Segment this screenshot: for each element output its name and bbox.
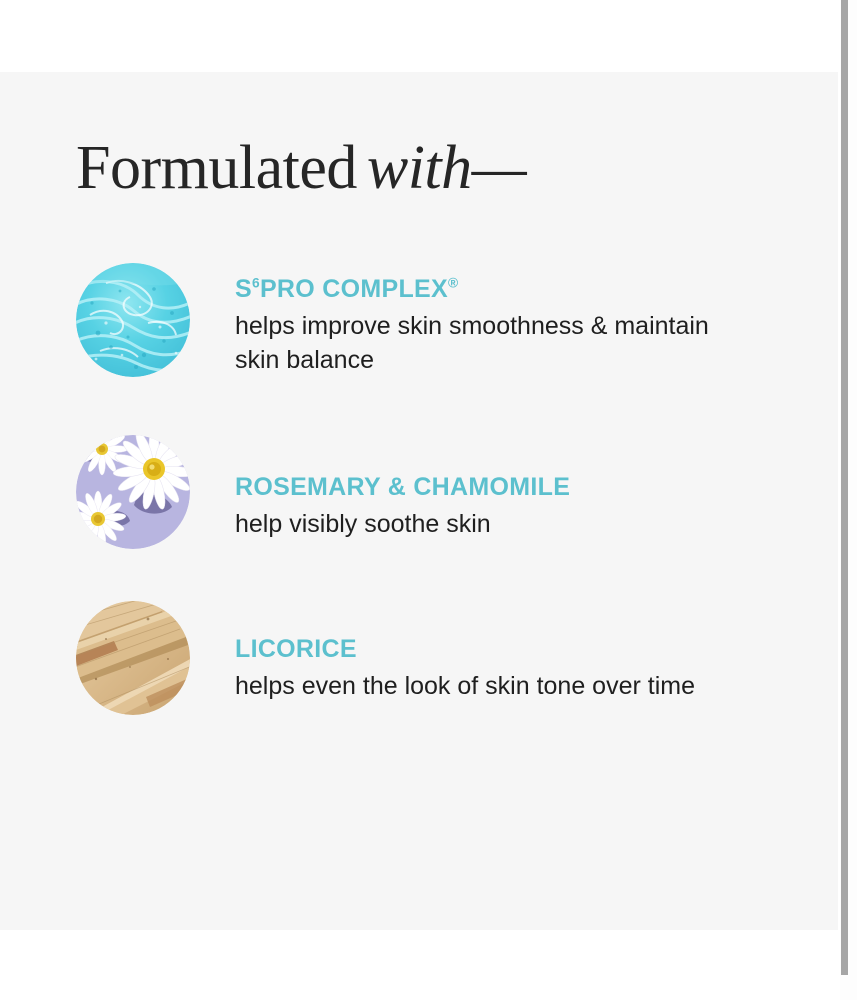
ingredient-name-rest: PRO COMPLEX <box>260 275 448 303</box>
rosemary-chamomile-daisy-thumbnail <box>76 435 190 549</box>
ingredient-copy: ROSEMARY & CHAMOMILE help visibly soothe… <box>190 435 570 541</box>
ingredient-description: help visibly soothe skin <box>235 507 570 541</box>
list-item: LICORICE helps even the look of skin ton… <box>76 601 776 715</box>
s6-pro-complex-gel-swirl-thumbnail <box>76 263 190 377</box>
page-title-italic: with— <box>357 134 526 202</box>
vertical-scrollbar-thumb[interactable] <box>841 0 848 975</box>
ingredient-copy: LICORICE helps even the look of skin ton… <box>190 601 695 703</box>
registered-trademark-icon: ® <box>448 276 458 291</box>
page-title-regular: Formulated <box>76 134 357 202</box>
ingredient-name: ROSEMARY & CHAMOMILE <box>235 473 570 502</box>
page-title: Formulatedwith— <box>76 136 526 201</box>
ingredient-name: S6PRO COMPLEX® <box>235 275 735 304</box>
vertical-scrollbar-track[interactable] <box>840 0 857 1000</box>
ingredient-list: S6PRO COMPLEX® helps improve skin smooth… <box>76 263 776 775</box>
list-item: ROSEMARY & CHAMOMILE help visibly soothe… <box>76 435 776 549</box>
licorice-root-sticks-thumbnail <box>76 601 190 715</box>
ingredient-copy: S6PRO COMPLEX® helps improve skin smooth… <box>190 263 735 377</box>
ingredient-name-superscript: 6 <box>252 276 260 291</box>
ingredient-description: helps improve skin smoothness & maintain… <box>235 309 735 377</box>
list-item: S6PRO COMPLEX® helps improve skin smooth… <box>76 263 776 377</box>
ingredient-name-main: S <box>235 275 252 303</box>
product-ingredients-page: Formulatedwith— <box>0 0 857 1000</box>
ingredient-description: helps even the look of skin tone over ti… <box>235 669 695 703</box>
ingredient-name: LICORICE <box>235 635 695 664</box>
